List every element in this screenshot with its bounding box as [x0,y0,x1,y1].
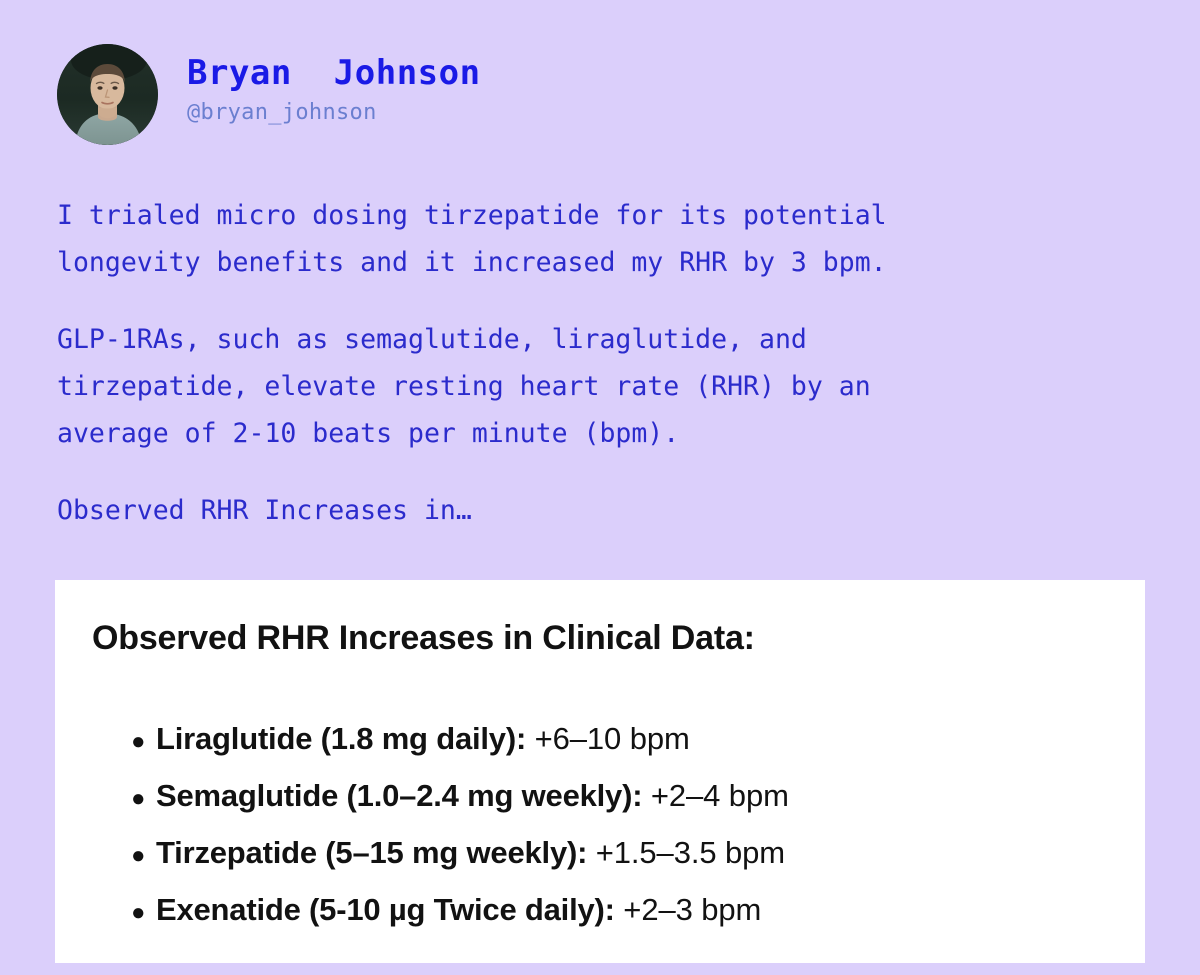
list-item-drug: Exenatide (5-10 µg Twice daily): [156,892,615,928]
post-paragraph-3-truncated[interactable]: Observed RHR Increases in… [57,487,1067,534]
bullet-dot-icon: ● [92,844,156,868]
author-handle[interactable]: @bryan_johnson [187,100,481,125]
list-item-value: +1.5–3.5 bpm [587,835,785,871]
avatar[interactable] [57,44,158,145]
author-identity: Bryan Johnson @bryan_johnson [187,44,481,125]
list-item: ● Liraglutide (1.8 mg daily): +6–10 bpm [92,721,1135,778]
bullet-dot-icon: ● [92,901,156,925]
embedded-image-card[interactable]: Observed RHR Increases in Clinical Data:… [55,580,1145,963]
rhr-increase-list: ● Liraglutide (1.8 mg daily): +6–10 bpm … [92,721,1135,949]
tweet-screenshot: Bryan Johnson @bryan_johnson I trialed m… [0,0,1200,975]
author-display-name[interactable]: Bryan Johnson [187,54,481,93]
list-item-drug: Liraglutide (1.8 mg daily): [156,721,526,757]
list-item-value: +6–10 bpm [526,721,690,757]
list-item: ● Tirzepatide (5–15 mg weekly): +1.5–3.5… [92,835,1135,892]
profile-photo-icon [57,44,158,145]
list-item-drug: Tirzepatide (5–15 mg weekly): [156,835,587,871]
list-item: ● Semaglutide (1.0–2.4 mg weekly): +2–4 … [92,778,1135,835]
list-item-value: +2–3 bpm [615,892,761,928]
list-item-value: +2–4 bpm [642,778,788,814]
post-body: I trialed micro dosing tirzepatide for i… [57,192,1067,534]
list-item-drug: Semaglutide (1.0–2.4 mg weekly): [156,778,642,814]
list-item: ● Exenatide (5-10 µg Twice daily): +2–3 … [92,892,1135,949]
post-paragraph-2: GLP-1RAs, such as semaglutide, liragluti… [57,316,1067,457]
bullet-dot-icon: ● [92,787,156,811]
card-title: Observed RHR Increases in Clinical Data: [92,619,755,658]
bullet-dot-icon: ● [92,730,156,754]
post-paragraph-1: I trialed micro dosing tirzepatide for i… [57,192,1067,286]
post-header: Bryan Johnson @bryan_johnson [57,44,481,145]
